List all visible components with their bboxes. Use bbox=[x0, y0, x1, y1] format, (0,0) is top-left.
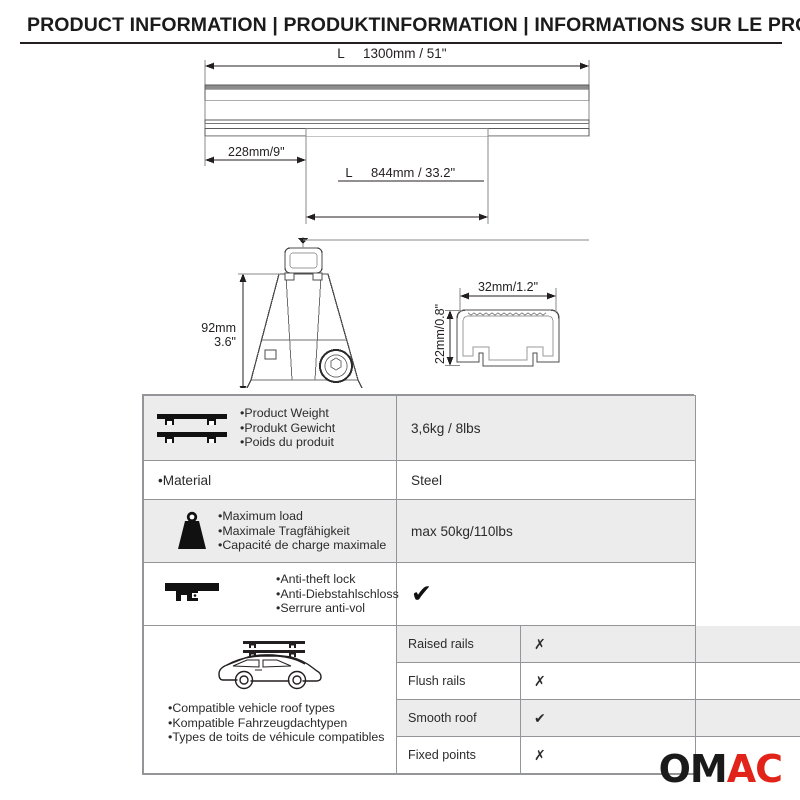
row-label-line: •Maximum load bbox=[218, 509, 392, 524]
row-label-line: •Anti-Diebstahlschloss bbox=[276, 587, 399, 602]
row-label-line: •Types de toits de véhicule compatibles bbox=[168, 730, 384, 745]
foot-offset-value: 228mm/9" bbox=[228, 145, 285, 159]
logo-text-red: AC bbox=[727, 747, 782, 791]
row-label-line: •Capacité de charge maximale bbox=[218, 538, 392, 553]
row-label-line: •Poids du produit bbox=[240, 435, 392, 450]
material-label: •Material bbox=[144, 473, 396, 488]
foot-height-value-line2: 3.6" bbox=[214, 335, 236, 349]
profile-width-value: 32mm/1.2" bbox=[478, 280, 538, 294]
row-label-line: •Maximale Tragfähigkeit bbox=[218, 524, 392, 539]
row-label-line: •Serrure anti-vol bbox=[276, 601, 399, 616]
row-label-line: •Anti-theft lock bbox=[276, 572, 399, 587]
table-row: •Material Steel bbox=[144, 461, 696, 500]
bar-length-value: 1300mm / 51" bbox=[363, 46, 447, 61]
product-weight-value: 3,6kg / 8lbs bbox=[397, 421, 695, 436]
page-title: PRODUCT INFORMATION | PRODUKTINFORMATION… bbox=[27, 14, 787, 37]
table-row: •Product Weight •Produkt Gewicht •Poids … bbox=[144, 396, 696, 461]
row-label-line: •Produkt Gewicht bbox=[240, 421, 392, 436]
profile-height-value: 22mm/0.8" bbox=[433, 304, 447, 364]
table-row: •Compatible vehicle roof types •Kompatib… bbox=[144, 626, 696, 774]
span-value: 844mm / 33.2" bbox=[371, 165, 455, 180]
roof-type-row: Flush rails ✗ bbox=[397, 663, 800, 700]
material-value: Steel bbox=[397, 473, 695, 488]
bar-length-unit-label: L bbox=[337, 46, 345, 61]
technical-drawing: L 1300mm / 51" 228mm/9" L 844mm / 33.2" … bbox=[0, 44, 800, 388]
roof-type-mark: ✔ bbox=[521, 700, 800, 737]
roof-type-mark: ✗ bbox=[521, 626, 800, 663]
row-label-line: •Product Weight bbox=[240, 406, 392, 421]
car-with-rack-icon bbox=[211, 636, 329, 697]
row-label-line: •Kompatible Fahrzeugdachtypen bbox=[168, 716, 384, 731]
roof-type-name: Raised rails bbox=[397, 626, 521, 663]
roof-type-row: Smooth roof ✔ bbox=[397, 700, 800, 737]
crossbars-icon bbox=[144, 406, 240, 450]
table-row: •Anti-theft lock •Anti-Diebstahlschloss … bbox=[144, 563, 696, 626]
roof-type-name: Flush rails bbox=[397, 663, 521, 700]
lock-icon bbox=[144, 577, 240, 611]
row-label-line: •Compatible vehicle roof types bbox=[168, 701, 384, 716]
max-load-value: max 50kg/110lbs bbox=[397, 524, 695, 539]
span-unit-label: L bbox=[345, 165, 352, 180]
roof-type-row: Raised rails ✗ bbox=[397, 626, 800, 663]
roof-type-mark: ✗ bbox=[521, 663, 800, 700]
anti-theft-lock-value: ✔ bbox=[397, 582, 695, 607]
product-information-sheet: PRODUCT INFORMATION | PRODUKTINFORMATION… bbox=[0, 0, 800, 800]
omac-logo: OMAC bbox=[659, 750, 782, 788]
table-row: •Maximum load •Maximale Tragfähigkeit •C… bbox=[144, 500, 696, 563]
roof-type-name: Smooth roof bbox=[397, 700, 521, 737]
specification-table: •Product Weight •Produkt Gewicht •Poids … bbox=[142, 394, 694, 775]
logo-text-black: OM bbox=[659, 747, 727, 791]
roof-type-name: Fixed points bbox=[397, 737, 521, 774]
foot-height-value-line1: 92mm bbox=[201, 321, 236, 335]
